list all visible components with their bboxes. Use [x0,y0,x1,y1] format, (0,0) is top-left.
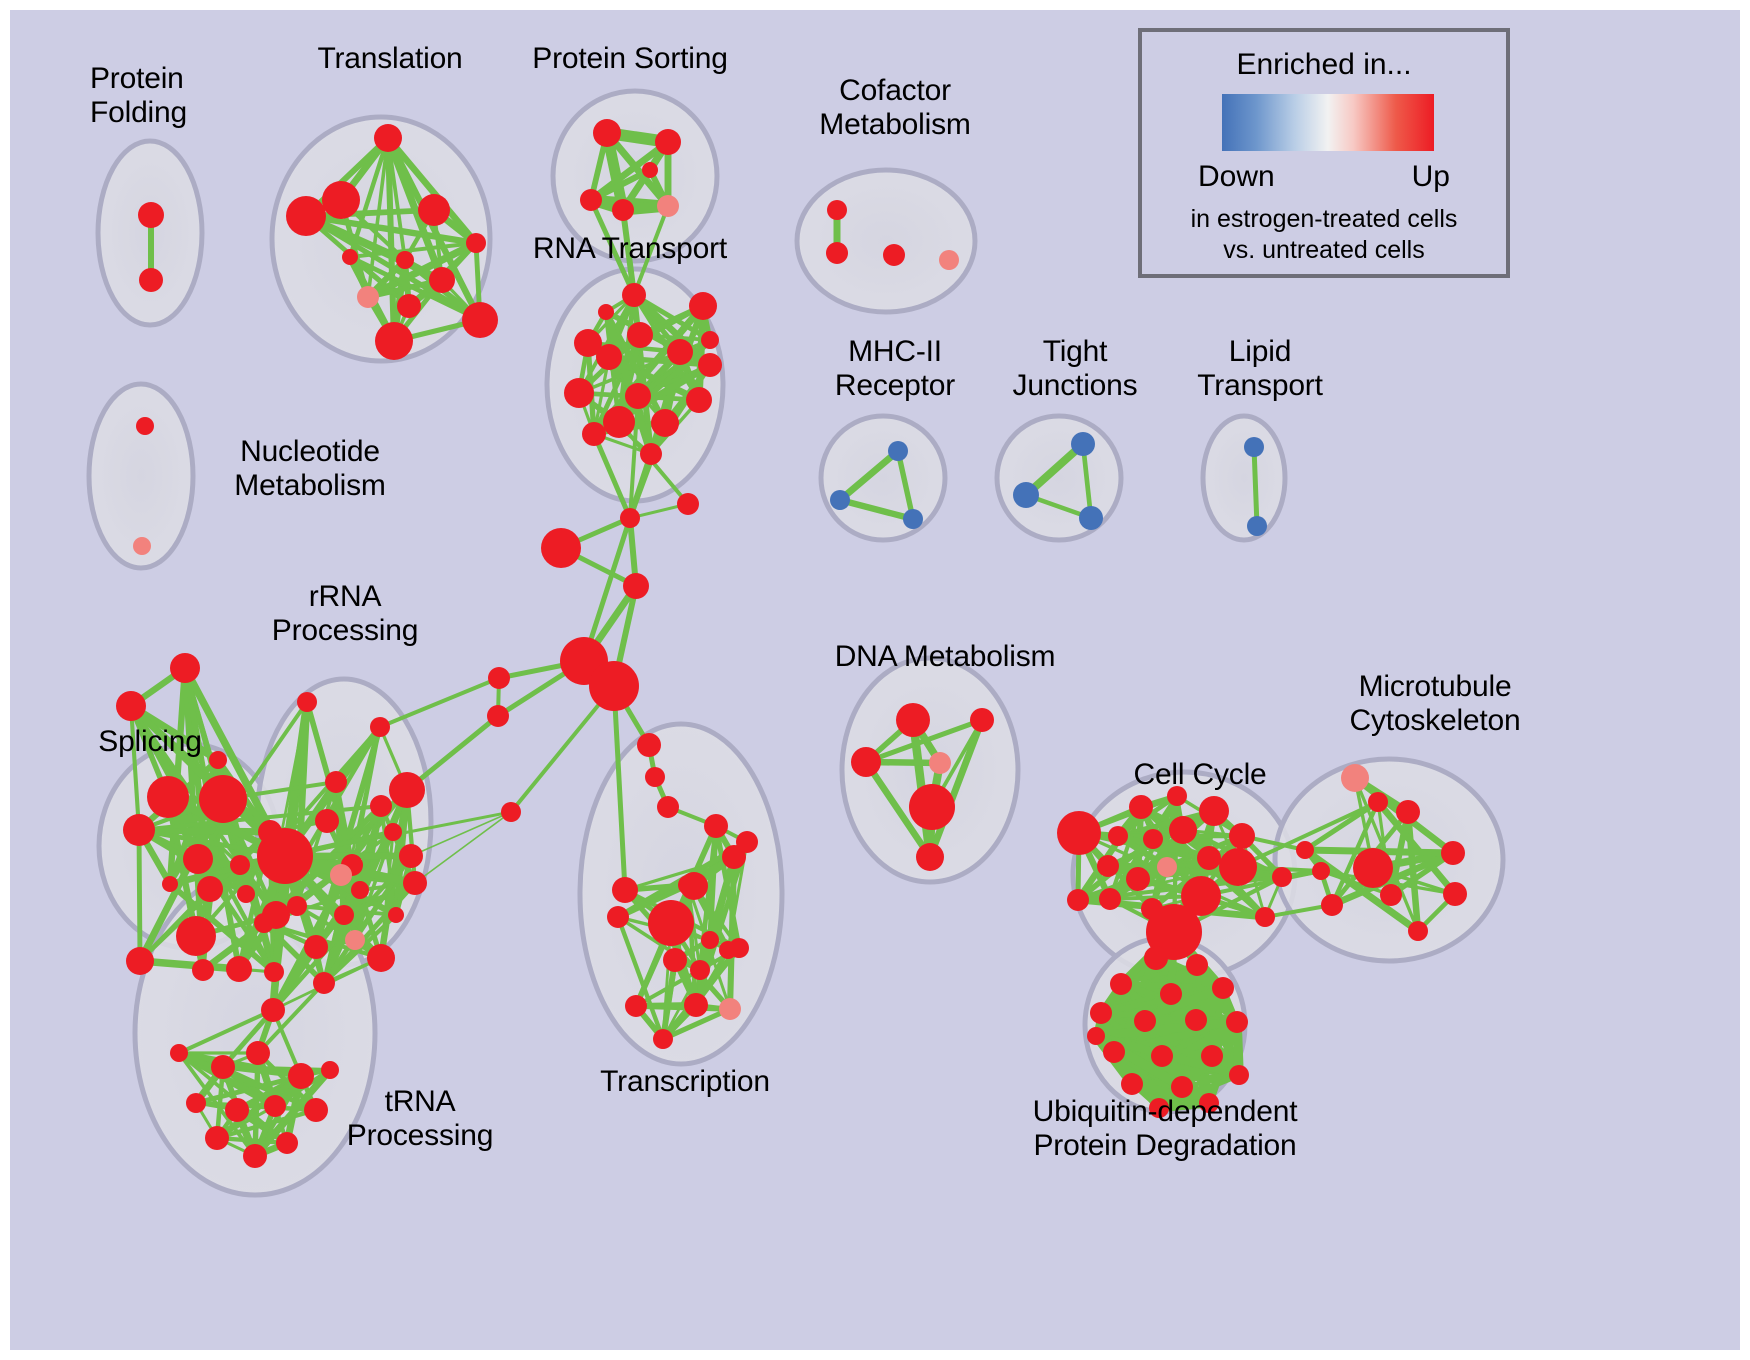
network-node[interactable] [384,823,402,841]
network-node[interactable] [388,907,404,923]
legend-caption-line2: vs. untreated cells [1223,236,1425,264]
network-node[interactable] [126,947,154,975]
network-node[interactable] [357,286,379,308]
network-node[interactable] [593,119,621,147]
network-node[interactable] [389,772,425,808]
network-node[interactable] [162,876,178,892]
network-node[interactable] [678,875,698,895]
network-node[interactable] [929,752,951,774]
network-node[interactable] [186,1093,206,1113]
network-node[interactable] [704,814,728,838]
network-node[interactable] [1134,1010,1156,1032]
network-node[interactable] [1312,862,1330,880]
network-node[interactable] [170,653,200,683]
network-node[interactable] [1296,841,1314,859]
network-node[interactable] [209,751,227,769]
network-node[interactable] [651,409,679,437]
network-node[interactable] [625,383,651,409]
network-node[interactable] [1368,792,1388,812]
network-node[interactable] [288,1063,314,1089]
network-node[interactable] [1067,889,1089,911]
network-node[interactable] [243,1144,267,1168]
network-node[interactable] [677,493,699,515]
network-node[interactable] [653,1029,673,1049]
network-node[interactable] [903,509,923,529]
network-node[interactable] [1408,921,1428,941]
network-node[interactable] [1157,857,1177,877]
network-node[interactable] [1199,796,1229,826]
network-node[interactable] [642,162,658,178]
network-node[interactable] [719,941,737,959]
network-node[interactable] [304,935,328,959]
network-edge [380,678,499,727]
network-node[interactable] [297,692,317,712]
network-node[interactable] [396,251,414,269]
network-node[interactable] [888,441,908,461]
network-node[interactable] [1226,1011,1248,1033]
network-edge [139,830,140,961]
network-node[interactable] [1201,1045,1223,1067]
network-node[interactable] [663,948,687,972]
network-node[interactable] [487,705,509,727]
network-node[interactable] [276,1132,298,1154]
network-node[interactable] [1255,907,1275,927]
network-node[interactable] [192,959,214,981]
network-node[interactable] [116,691,146,721]
network-node[interactable] [322,181,360,219]
network-node[interactable] [1229,1065,1249,1085]
network-node[interactable] [970,708,994,732]
network-node[interactable] [351,881,369,899]
network-node[interactable] [429,267,455,293]
network-node[interactable] [701,931,719,949]
network-node[interactable] [580,189,602,211]
network-node[interactable] [909,784,955,830]
cluster-ellipse-lipid-transport [1203,416,1285,540]
network-node[interactable] [136,417,154,435]
network-node[interactable] [313,972,335,994]
network-node[interactable] [827,200,847,220]
network-node[interactable] [645,767,665,787]
network-node[interactable] [1185,1009,1207,1031]
network-node[interactable] [1441,841,1465,865]
network-node[interactable] [690,960,710,980]
network-node[interactable] [622,283,646,307]
network-node[interactable] [1149,1098,1169,1118]
network-node[interactable] [170,1044,188,1062]
network-node[interactable] [325,771,347,793]
network-node[interactable] [1167,786,1187,806]
network-node[interactable] [1099,888,1121,910]
network-node[interactable] [637,733,661,757]
network-node[interactable] [1247,516,1267,536]
network-node[interactable] [370,717,390,737]
network-node[interactable] [1212,977,1234,999]
network-node[interactable] [367,944,395,972]
network-node[interactable] [466,233,486,253]
legend-caption: in estrogen-treated cellsvs. untreated c… [1142,204,1506,267]
network-node[interactable] [603,406,635,438]
network-node[interactable] [689,292,717,320]
network-node[interactable] [211,1055,235,1079]
network-node[interactable] [612,877,638,903]
legend-color-gradient-bar [1222,94,1434,151]
network-node[interactable] [286,196,326,236]
network-node[interactable] [399,844,423,868]
network-node[interactable] [826,242,848,264]
network-node[interactable] [374,124,402,152]
network-node[interactable] [1087,1027,1105,1045]
network-node[interactable] [315,809,339,833]
network-node[interactable] [1143,829,1163,849]
network-node[interactable] [1090,1002,1112,1024]
network-node[interactable] [342,249,358,265]
network-node[interactable] [939,250,959,270]
legend-title: Enriched in... [1142,48,1506,82]
figure-root: Protein FoldingTranslationProtein Sortin… [0,0,1750,1360]
network-node[interactable] [287,896,307,916]
network-node[interactable] [589,661,639,711]
network-node[interactable] [257,828,313,884]
network-node[interactable] [237,885,255,903]
network-node[interactable] [183,844,213,874]
network-node[interactable] [1443,882,1467,906]
network-node[interactable] [851,747,881,777]
network-node[interactable] [564,378,594,408]
network-node[interactable] [1321,894,1343,916]
network-node[interactable] [1121,1073,1143,1095]
network-node[interactable] [541,528,581,568]
network-node[interactable] [261,998,285,1022]
legend-box: Enriched in... Down Up in estrogen-treat… [1138,28,1510,278]
network-node[interactable] [1353,848,1393,888]
legend-caption-line1: in estrogen-treated cells [1191,205,1458,233]
network-node[interactable] [330,864,352,886]
network-node[interactable] [230,855,250,875]
network-node[interactable] [655,129,681,155]
network-node[interactable] [1197,846,1221,870]
network-node[interactable] [254,913,274,933]
network-node[interactable] [1013,482,1039,508]
network-node[interactable] [197,876,223,902]
network-node[interactable] [375,322,413,360]
network-node[interactable] [1103,1041,1125,1063]
network-node[interactable] [596,344,622,370]
network-node[interactable] [896,703,930,737]
network-node[interactable] [684,993,708,1017]
network-node[interactable] [698,353,722,377]
network-node[interactable] [612,199,634,221]
network-node[interactable] [133,537,151,555]
network-node[interactable] [640,443,662,465]
network-node[interactable] [582,422,606,446]
network-node[interactable] [138,202,164,228]
network-node[interactable] [1108,826,1128,846]
network-node[interactable] [1097,855,1119,877]
network-node[interactable] [264,1095,286,1117]
network-node[interactable] [627,322,653,348]
network-node[interactable] [1272,867,1292,887]
network-node[interactable] [1341,764,1369,792]
network-node[interactable] [1144,946,1168,970]
network-node[interactable] [1079,506,1103,530]
network-node[interactable] [686,387,712,413]
cluster-ellipse-mhc-ii-receptor [821,416,945,540]
network-node[interactable] [1169,816,1197,844]
network-node[interactable] [736,831,758,853]
network-node[interactable] [1380,884,1402,906]
network-node[interactable] [1126,867,1150,891]
network-node[interactable] [1396,800,1420,824]
cluster-ellipse-cofactor-metabolism [797,170,975,312]
network-node[interactable] [648,900,694,946]
network-node[interactable] [1244,437,1264,457]
network-node[interactable] [501,802,521,822]
network-node[interactable] [625,995,647,1017]
network-node[interactable] [226,956,252,982]
network-node[interactable] [719,998,741,1020]
network-node[interactable] [1160,983,1182,1005]
network-node[interactable] [1186,954,1208,976]
network-edge [1254,447,1257,526]
network-node[interactable] [1171,1076,1193,1098]
network-node[interactable] [830,490,850,510]
network-node[interactable] [462,302,498,338]
network-node[interactable] [123,814,155,846]
network-node[interactable] [701,331,719,349]
legend-low-label: Down [1198,160,1275,194]
network-node[interactable] [246,1041,270,1065]
network-node[interactable] [304,1098,328,1122]
network-node[interactable] [199,775,247,823]
network-node[interactable] [418,194,450,226]
network-node[interactable] [205,1126,229,1150]
network-node[interactable] [345,930,365,950]
network-node[interactable] [657,796,679,818]
network-node[interactable] [488,667,510,689]
network-node[interactable] [1057,811,1101,855]
network-node[interactable] [1219,848,1257,886]
network-node[interactable] [1110,973,1132,995]
legend-high-label: Up [1412,160,1450,194]
network-node[interactable] [607,906,629,928]
network-node[interactable] [1151,1045,1173,1067]
network-node[interactable] [370,795,392,817]
network-node[interactable] [225,1098,249,1122]
network-node[interactable] [147,776,189,818]
network-node[interactable] [176,916,216,956]
network-node[interactable] [264,962,284,982]
network-canvas: Protein FoldingTranslationProtein Sortin… [10,10,1740,1350]
network-node[interactable] [1229,823,1255,849]
network-node[interactable] [620,508,640,528]
network-node[interactable] [334,905,354,925]
network-node[interactable] [1129,795,1153,819]
network-node[interactable] [623,573,649,599]
network-node[interactable] [1071,432,1095,456]
network-node[interactable] [1199,1093,1219,1113]
network-node[interactable] [667,339,693,365]
network-node[interactable] [598,304,614,320]
network-node[interactable] [657,195,679,217]
network-node[interactable] [139,268,163,292]
network-node[interactable] [883,244,905,266]
network-node[interactable] [397,294,421,318]
network-node[interactable] [916,843,944,871]
network-node[interactable] [321,1061,339,1079]
network-node[interactable] [403,871,427,895]
